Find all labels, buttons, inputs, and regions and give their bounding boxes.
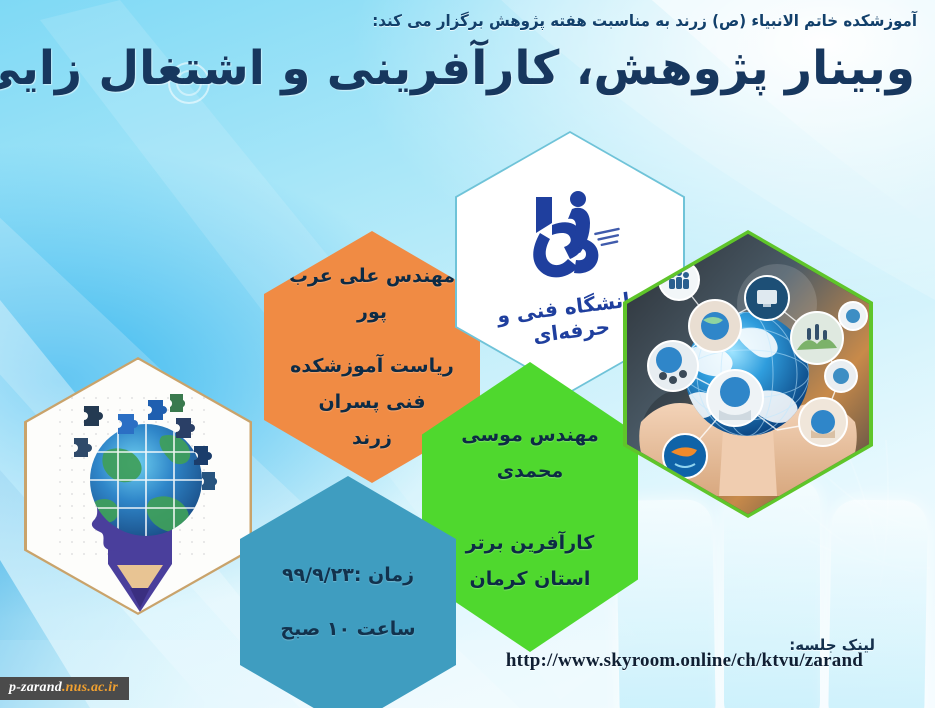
datetime-text-block: زمان :۹۹/۹/۲۳ ساعت ۱۰ صبح <box>266 557 429 647</box>
poster-canvas: آموزشکده خاتم الانبیاء (ص) زرند به مناسب… <box>0 0 935 708</box>
meeting-link-url[interactable]: http://www.skyroom.online/ch/ktvu/zarand <box>506 650 863 672</box>
background-shape-3 <box>828 499 928 708</box>
tvu-university-logo-icon <box>506 181 634 289</box>
poster-title: وبینار پژوهش، کارآفرینی و اشتغال زایی <box>35 40 915 99</box>
watermark-domain: .nus.ac.ir <box>62 680 118 695</box>
event-time: ساعت ۱۰ صبح <box>280 611 415 647</box>
speaker2-name: مهندس موسی محمدی <box>436 417 624 489</box>
speaker1-role-line1: ریاست آموزشکده فنی پسران <box>278 348 466 420</box>
background-shape-2 <box>724 478 820 708</box>
site-watermark: p-zarand.nus.ac.ir <box>0 677 129 700</box>
speaker2-role-line1: کارآفرین برتر استان کرمان <box>436 525 624 597</box>
poster-subtitle: آموزشکده خاتم الانبیاء (ص) زرند به مناسب… <box>391 9 917 33</box>
watermark-name: p-zarand <box>9 680 62 695</box>
event-date: زمان :۹۹/۹/۲۳ <box>280 557 415 593</box>
